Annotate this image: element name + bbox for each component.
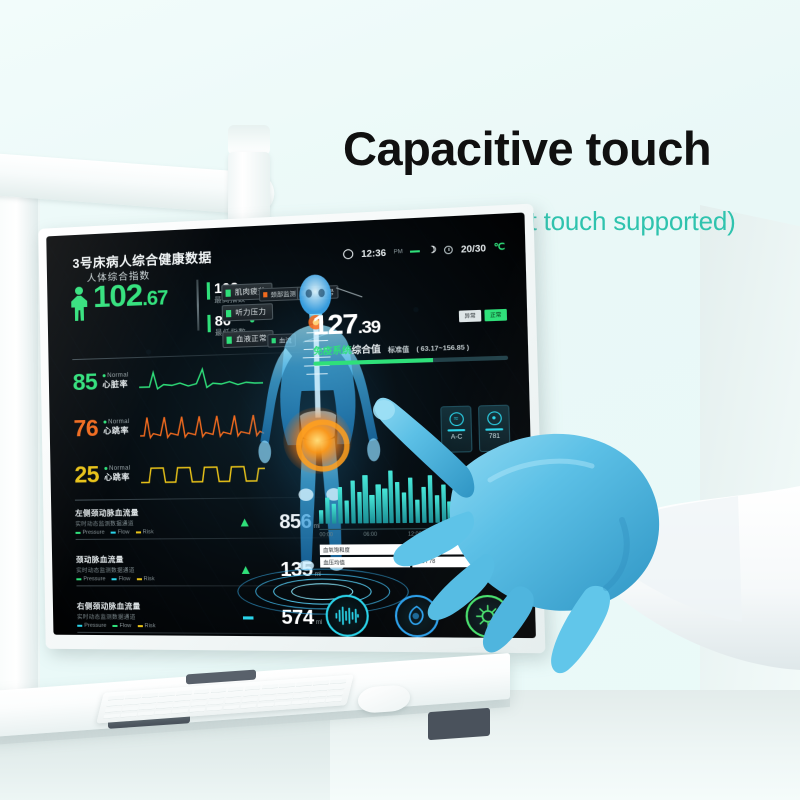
stat-chip-0-0: Pressure: [75, 530, 104, 536]
immune-pill-normal[interactable]: 正常: [484, 309, 507, 321]
scene: Capacitive touch (Ten point touch suppor…: [0, 0, 800, 800]
vital-label-0: 心脏率: [102, 378, 129, 390]
vital-label-2: 心跳率: [104, 471, 131, 483]
audio-wave-icon: [325, 595, 369, 637]
circle-item-0[interactable]: 血液循环检测: [319, 595, 376, 638]
vital-label-1: 心跳率: [103, 425, 130, 437]
stat-chip-1-2: Risk: [136, 576, 154, 582]
body-index-block: 102.67: [71, 279, 168, 321]
immune-pill-abnormal[interactable]: 异常: [459, 310, 482, 322]
status-temp-unit: ℃: [494, 241, 506, 253]
vital-value-0: 85: [73, 370, 98, 393]
stat-chip-1-0: Pressure: [76, 576, 105, 582]
body-index-label: 人体综合指数: [87, 268, 151, 285]
vital-normal-1: Normal: [108, 418, 129, 425]
x-tick-0: 00:00: [319, 532, 333, 538]
stat-chip-1-1: Flow: [111, 576, 130, 582]
immune-range-key: 标准值: [388, 346, 409, 354]
clock-icon: ◯: [343, 248, 354, 260]
bar-7: [363, 475, 369, 523]
stat-chip-2-0: Pressure: [77, 623, 106, 629]
immune-pills: 异常 正常: [459, 309, 507, 322]
moon-icon: ☽: [428, 244, 437, 256]
bar-3: [337, 487, 343, 524]
page-title: Capacitive touch: [343, 124, 793, 173]
gloved-hand: [370, 370, 800, 700]
body-index-value: 102.67: [93, 279, 168, 316]
stat-chip-2-1: Flow: [112, 623, 131, 629]
mount-arm-cap: [228, 125, 270, 155]
vital-value-2: 25: [74, 463, 99, 486]
stat-chip-0-1: Flow: [111, 529, 130, 535]
stat-chip-0-2: Risk: [136, 529, 154, 535]
bar-2: [331, 503, 336, 523]
status-time-suffix: PM: [394, 248, 403, 255]
bar-5: [350, 481, 356, 524]
status-temperature: 20/30: [461, 242, 486, 254]
person-icon: [71, 286, 88, 321]
bar-1: [325, 497, 330, 523]
bar-6: [357, 491, 362, 523]
bar-0: [319, 510, 324, 524]
bar-4: [344, 500, 349, 523]
stat-chip-2-2: Risk: [137, 623, 155, 629]
time-indicator-bar: [410, 250, 420, 253]
vital-normal-2: Normal: [109, 465, 130, 471]
weather-icon: [444, 245, 453, 254]
tray-bracket-right: [428, 708, 490, 740]
immune-range: ( 63.17~156.85 ): [416, 344, 469, 353]
vital-value-1: 76: [73, 417, 98, 440]
status-time: 12:36: [361, 247, 386, 259]
support-column: [0, 175, 38, 695]
immune-panel: 127.39 免疫系统综合值 标准值 ( 63.17~156.85 ) 异常 正…: [312, 305, 508, 366]
